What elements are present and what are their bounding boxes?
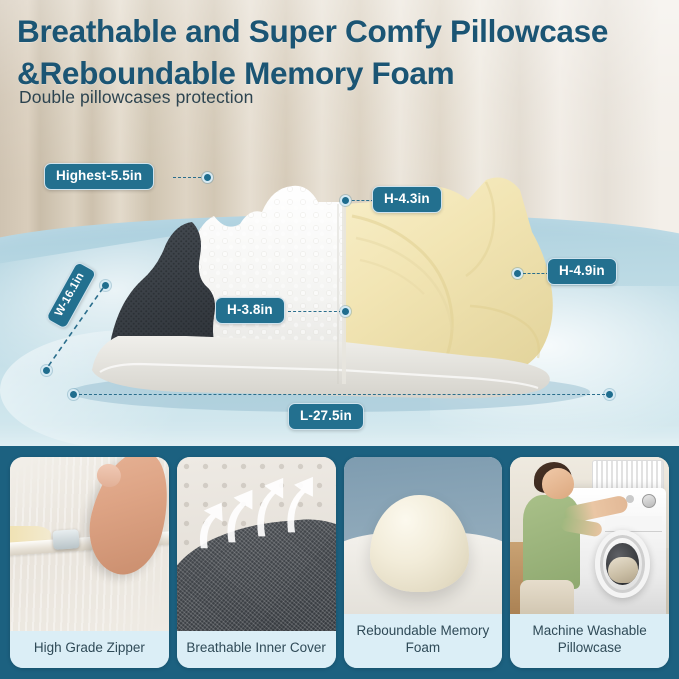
feature-caption-zipper: High Grade Zipper	[10, 631, 169, 668]
machine-door	[595, 530, 650, 598]
callout-highest: Highest-5.5in	[44, 163, 154, 190]
feature-card-zipper[interactable]: High Grade Zipper	[10, 457, 169, 668]
door-glass	[606, 543, 639, 585]
callout-length: L-27.5in	[288, 403, 364, 430]
anchor-dot-length-right	[604, 389, 615, 400]
feature-caption-cover: Breathable Inner Cover	[177, 631, 336, 668]
page-subtitle: Double pillowcases protection	[19, 87, 253, 108]
control-panel	[605, 516, 662, 532]
person-head	[542, 468, 574, 499]
anchor-dot-length-left	[68, 389, 79, 400]
anchor-dot-height-49	[512, 268, 523, 279]
person-pants	[520, 580, 574, 615]
leader-line-height-38	[288, 311, 342, 312]
feature-caption-foam: Reboundable Memory Foam	[344, 614, 503, 668]
infographic-page: Highest-5.5in H-4.3in H-4.9in H-3.8in W-…	[0, 0, 679, 679]
laundry-load	[608, 557, 638, 583]
mesh-cover-photo	[177, 457, 336, 631]
leader-line-height-43	[347, 200, 374, 201]
feature-card-foam[interactable]: Reboundable Memory Foam	[344, 457, 503, 668]
zipper-photo	[10, 457, 169, 631]
feature-caption-washable: Machine Washable Pillowcase	[510, 614, 669, 668]
memory-foam-dome-photo	[344, 457, 503, 614]
memory-foam-dome	[370, 495, 468, 592]
feature-card-cover[interactable]: Breathable Inner Cover	[177, 457, 336, 668]
feature-cards: High Grade Zipper Breathable Inner Cover	[0, 446, 679, 679]
airflow-arrows-icon	[177, 457, 336, 586]
feature-card-washable[interactable]: Machine Washable Pillowcase	[510, 457, 669, 668]
anchor-dot-height-43	[340, 195, 351, 206]
washing-machine-photo	[510, 457, 669, 614]
zipper-slider-icon	[52, 529, 79, 550]
anchor-dot-width-top	[100, 280, 111, 291]
callout-height-38: H-3.8in	[215, 297, 285, 324]
anchor-dot-highest	[202, 172, 213, 183]
page-title: Breathable and Super Comfy Pillowcase &R…	[17, 11, 667, 94]
hero-section: Highest-5.5in H-4.3in H-4.9in H-3.8in W-…	[0, 0, 679, 446]
anchor-dot-width-bottom	[41, 365, 52, 376]
leader-line-length	[79, 394, 605, 395]
callout-height-49: H-4.9in	[547, 258, 617, 285]
leader-line-height-49	[523, 273, 549, 274]
callout-height-43: H-4.3in	[372, 186, 442, 213]
anchor-dot-height-38	[340, 306, 351, 317]
